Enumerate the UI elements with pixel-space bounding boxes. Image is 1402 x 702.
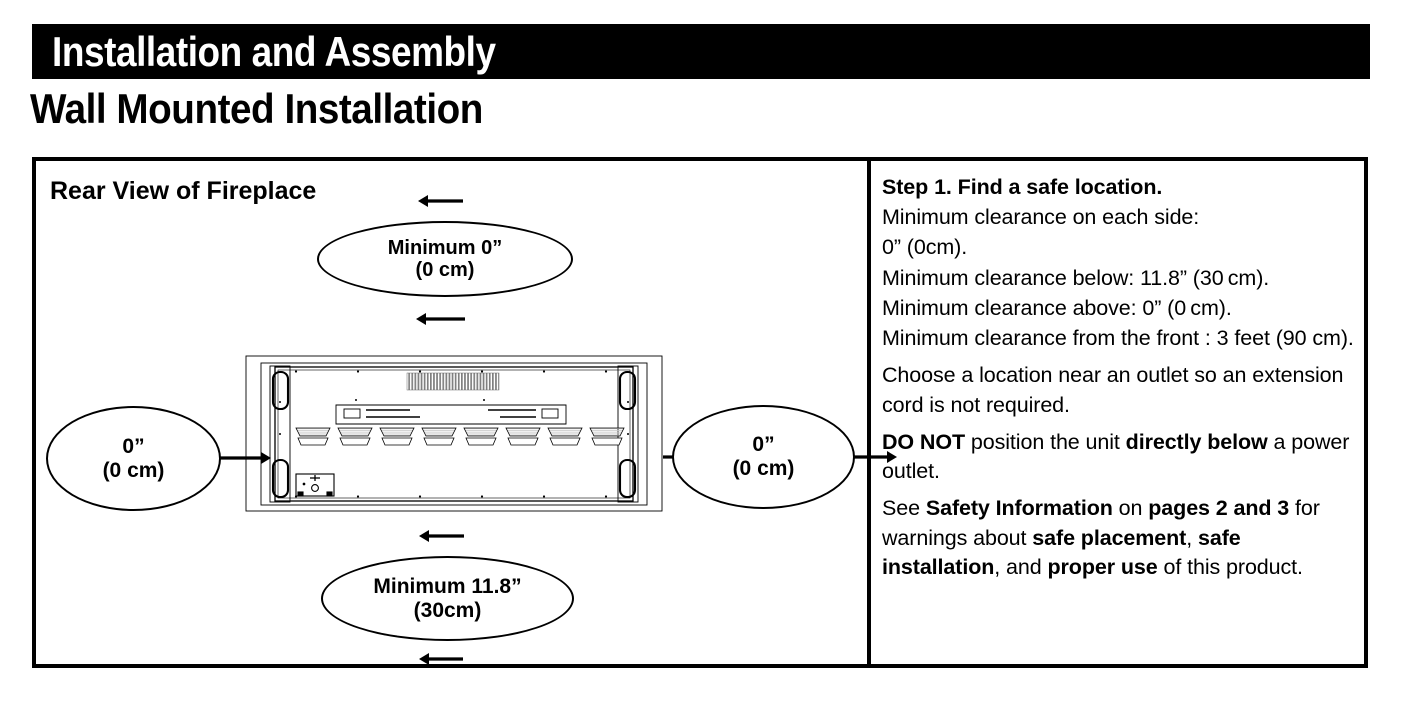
instruction-front: Minimum clearance from the front : 3 fee…	[882, 324, 1356, 353]
safety-information-bold: Safety Information	[926, 496, 1113, 520]
instruction-heading-text: Step 1. Find a safe location.	[882, 175, 1162, 199]
callout-left-line1: 0”	[122, 435, 144, 459]
instruction-do-not: DO NOT position the unit directly below …	[882, 428, 1356, 486]
instruction-safety-reference: See Safety Information on pages 2 and 3 …	[882, 494, 1356, 582]
instruction-side-2: 0” (0cm).	[882, 233, 1356, 262]
safety-pre: See	[882, 496, 926, 520]
content-frame: Rear View of Fireplace	[32, 157, 1368, 668]
vent-grille	[407, 373, 499, 390]
instructions-panel: Step 1. Find a safe location. Minimum cl…	[871, 161, 1368, 664]
safety-mid3: ,	[1186, 526, 1198, 550]
instruction-heading: Step 1. Find a safe location.	[882, 173, 1356, 202]
callout-right-line1: 0”	[752, 433, 774, 457]
callout-bottom-line1: Minimum 11.8”	[373, 575, 521, 599]
directly-below-bold: directly below	[1126, 430, 1268, 454]
diagram-panel: Rear View of Fireplace	[36, 161, 867, 664]
page-header-title: Installation and Assembly	[52, 31, 496, 73]
callout-right-clearance: 0” (0 cm)	[672, 405, 855, 509]
callout-left-line2: (0 cm)	[103, 459, 165, 483]
do-not-bold: DO NOT	[882, 430, 965, 454]
pages-bold: pages 2 and 3	[1148, 496, 1289, 520]
callout-top-line2: (0 cm)	[416, 259, 475, 281]
proper-use-bold: proper use	[1048, 555, 1158, 579]
safety-tail: of this product.	[1158, 555, 1303, 579]
callout-top-line1: Minimum 0”	[388, 237, 502, 259]
wall-mount-clip	[296, 428, 624, 445]
callout-right-line2: (0 cm)	[733, 457, 795, 481]
fireplace-rear-view-drawing	[244, 348, 664, 518]
power-junction-box	[296, 474, 334, 496]
safety-mid1: on	[1113, 496, 1148, 520]
instruction-side-1: Minimum clearance on each side:	[882, 203, 1356, 232]
page-header-bar: Installation and Assembly	[32, 24, 1370, 79]
safe-placement-bold: safe placement	[1032, 526, 1186, 550]
instruction-above: Minimum clearance above: 0” (0 cm).	[882, 294, 1356, 323]
page-subtitle: Wall Mounted Installation	[30, 88, 483, 130]
callout-left-clearance: 0” (0 cm)	[46, 406, 221, 511]
control-bar	[336, 405, 566, 424]
safety-mid4: , and	[994, 555, 1047, 579]
do-not-mid: position the unit	[965, 430, 1126, 454]
instruction-below: Minimum clearance below: 11.8” (30 cm).	[882, 264, 1356, 293]
callout-bottom-line2: (30cm)	[414, 599, 482, 623]
callout-bottom-clearance: Minimum 11.8” (30cm)	[321, 556, 574, 641]
instruction-outlet: Choose a location near an outlet so an e…	[882, 361, 1356, 419]
callout-top-clearance: Minimum 0” (0 cm)	[317, 221, 573, 297]
